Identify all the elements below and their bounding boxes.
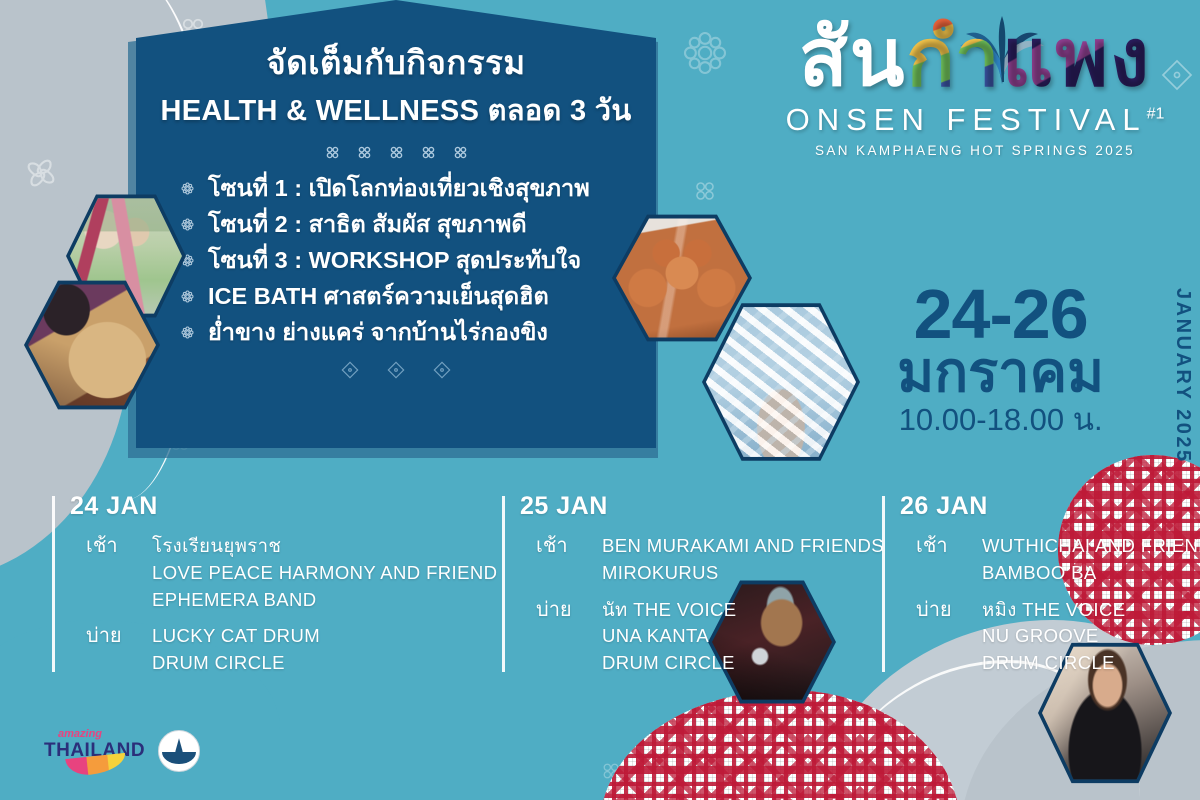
diamond-motif-icon bbox=[340, 360, 360, 385]
panel-title-english: HEALTH & WELLNESS ตลอด 3 วัน bbox=[158, 87, 634, 133]
panel-divider-top bbox=[158, 144, 634, 166]
act-name: WUTHICHAI AND FRIENDS bbox=[982, 533, 1200, 560]
slot-label: บ่าย bbox=[536, 597, 588, 677]
zone-bullet-text: โซนที่ 2 : สาธิต สัมผัส สุขภาพดี bbox=[208, 211, 527, 238]
schedule-date-label: 24 JAN bbox=[70, 492, 492, 521]
schedule-column-26jan: 26 JAN เช้า WUTHICHAI AND FRIENDS BAMBOO… bbox=[882, 492, 1182, 702]
slot-label: เช้า bbox=[916, 533, 968, 587]
flower-motif-icon bbox=[388, 144, 405, 166]
zone-bullet-text: ย่ำขาง ย่างแคร่ จากบ้านไร่กองขิง bbox=[208, 319, 548, 346]
act-name: LOVE PEACE HARMONY AND FRIEND bbox=[152, 560, 497, 587]
flower-motif-icon bbox=[356, 144, 373, 166]
flower-bullet-icon bbox=[180, 319, 195, 346]
zone-bullet-item: โซนที่ 2 : สาธิต สัมผัส สุขภาพดี bbox=[180, 211, 527, 238]
flower-motif-icon bbox=[600, 760, 622, 782]
act-name: หมิง THE VOICE bbox=[982, 597, 1125, 624]
festival-logo-english: ONSEN FESTIVAL#1 bbox=[770, 102, 1180, 138]
flower-bullet-icon bbox=[180, 175, 195, 202]
slot-label: เช้า bbox=[86, 533, 138, 613]
logo-thai-part3: แพง bbox=[1002, 13, 1151, 102]
festival-logo-title: ONSEN FESTIVAL bbox=[786, 102, 1147, 137]
act-name: BEN MURAKAMI AND FRIENDS bbox=[602, 533, 884, 560]
zone-bullet-item: ย่ำขาง ย่างแคร่ จากบ้านไร่กองขิง bbox=[180, 319, 548, 346]
date-range: 24-26 bbox=[897, 282, 1104, 346]
slot-acts: BEN MURAKAMI AND FRIENDS MIROKURUS bbox=[602, 533, 884, 587]
schedule-slot: บ่าย นัท THE VOICE UNA KANTA DRUM CIRCLE bbox=[520, 597, 882, 677]
schedule-slot: เช้า BEN MURAKAMI AND FRIENDS MIROKURUS bbox=[520, 533, 882, 587]
slot-label: บ่าย bbox=[916, 597, 968, 677]
date-vertical-english: JANUARY 2025 bbox=[1171, 288, 1194, 464]
slot-label: บ่าย bbox=[86, 623, 138, 677]
act-name: EPHEMERA BAND bbox=[152, 587, 497, 614]
flower-motif-icon bbox=[324, 144, 341, 166]
date-month-thai: มกราคม bbox=[897, 344, 1104, 400]
panel-divider-bottom bbox=[158, 360, 634, 385]
event-date-block: 24-26 มกราคม 10.00-18.00 น. bbox=[897, 282, 1104, 435]
flower-bullet-icon bbox=[180, 283, 195, 310]
tourism-authority-thailand-logo bbox=[158, 730, 200, 772]
schedule-date-label: 26 JAN bbox=[900, 492, 1182, 521]
act-name: DRUM CIRCLE bbox=[152, 650, 320, 677]
zone-bullet-text: โซนที่ 1 : เปิดโลกท่องเที่ยวเชิงสุขภาพ bbox=[208, 175, 590, 202]
diamond-motif-icon bbox=[386, 360, 406, 385]
amazing-word: amazing bbox=[58, 728, 102, 740]
schedule-date-label: 25 JAN bbox=[520, 492, 882, 521]
schedule-column-25jan: 25 JAN เช้า BEN MURAKAMI AND FRIENDS MIR… bbox=[502, 492, 882, 702]
flower-bullet-icon bbox=[180, 211, 195, 238]
logo-thai-part1: สัน bbox=[799, 13, 907, 102]
slot-acts: WUTHICHAI AND FRIENDS BAMBOO BA bbox=[982, 533, 1200, 587]
slot-acts: โรงเรียนยุพราช LOVE PEACE HARMONY AND FR… bbox=[152, 533, 497, 613]
slot-acts: นัท THE VOICE UNA KANTA DRUM CIRCLE bbox=[602, 597, 737, 677]
festival-edition: #1 bbox=[1147, 106, 1165, 123]
amazing-thailand-logo: amazing THAILAND bbox=[44, 728, 140, 774]
zone-bullet-item: โซนที่ 1 : เปิดโลกท่องเที่ยวเชิงสุขภาพ bbox=[180, 175, 590, 202]
act-name: LUCKY CAT DRUM bbox=[152, 623, 320, 650]
slot-acts: LUCKY CAT DRUM DRUM CIRCLE bbox=[152, 623, 320, 677]
act-name: โรงเรียนยุพราช bbox=[152, 533, 497, 560]
schedule-slot: บ่าย หมิง THE VOICE NU GROOVE DRUM CIRCL… bbox=[900, 597, 1182, 677]
schedule-slot: บ่าย LUCKY CAT DRUM DRUM CIRCLE bbox=[70, 623, 492, 677]
event-time: 10.00-18.00 น. bbox=[897, 404, 1104, 435]
schedule-slot: เช้า WUTHICHAI AND FRIENDS BAMBOO BA bbox=[900, 533, 1182, 587]
act-name: DRUM CIRCLE bbox=[602, 650, 737, 677]
red-textile-pattern-bottom bbox=[600, 690, 960, 800]
logo-thai-part2: กำ bbox=[906, 13, 1001, 102]
info-panel: จัดเต็มกับกิจกรรม HEALTH & WELLNESS ตลอด… bbox=[136, 0, 656, 448]
zone-bullet-item: ICE BATH ศาสตร์ความเย็นสุดฮิต bbox=[180, 283, 549, 310]
zone-bullet-item: โซนที่ 3 : WORKSHOP สุดประทับใจ bbox=[180, 247, 581, 274]
festival-subtitle: SAN KAMPHAENG HOT SPRINGS 2025 bbox=[770, 143, 1180, 158]
act-name: DRUM CIRCLE bbox=[982, 650, 1125, 677]
flower-motif-icon bbox=[452, 144, 469, 166]
flower-motif-icon bbox=[420, 144, 437, 166]
flower-motif-icon bbox=[692, 178, 718, 204]
act-name: UNA KANTA bbox=[602, 623, 737, 650]
rosette-motif-icon bbox=[680, 28, 730, 78]
act-name: NU GROOVE bbox=[982, 623, 1125, 650]
act-name: MIROKURUS bbox=[602, 560, 884, 587]
act-name: BAMBOO BA bbox=[982, 560, 1200, 587]
footer-logos: amazing THAILAND bbox=[44, 728, 200, 774]
festival-logo: สันกำแพง ONSEN FESTIVAL#1 SAN KAMPHAENG … bbox=[770, 18, 1180, 158]
lineup-schedule: 24 JAN เช้า โรงเรียนยุพราช LOVE PEACE HA… bbox=[0, 492, 1200, 702]
festival-logo-thai: สันกำแพง bbox=[770, 18, 1180, 98]
diamond-motif-icon bbox=[432, 360, 452, 385]
schedule-slot: เช้า โรงเรียนยุพราช LOVE PEACE HARMONY A… bbox=[70, 533, 492, 613]
zone-bullet-text: โซนที่ 3 : WORKSHOP สุดประทับใจ bbox=[208, 247, 581, 274]
panel-title-thai: จัดเต็มกับกิจกรรม bbox=[158, 44, 634, 83]
act-name: นัท THE VOICE bbox=[602, 597, 737, 624]
festival-poster: จัดเต็มกับกิจกรรม HEALTH & WELLNESS ตลอด… bbox=[0, 0, 1200, 800]
zone-bullet-list: โซนที่ 1 : เปิดโลกท่องเที่ยวเชิงสุขภาพ โ… bbox=[158, 175, 634, 346]
slot-label: เช้า bbox=[536, 533, 588, 587]
schedule-column-24jan: 24 JAN เช้า โรงเรียนยุพราช LOVE PEACE HA… bbox=[52, 492, 492, 702]
zone-bullet-text: ICE BATH ศาสตร์ความเย็นสุดฮิต bbox=[208, 283, 549, 310]
slot-acts: หมิง THE VOICE NU GROOVE DRUM CIRCLE bbox=[982, 597, 1125, 677]
flower-motif-icon bbox=[18, 150, 64, 196]
